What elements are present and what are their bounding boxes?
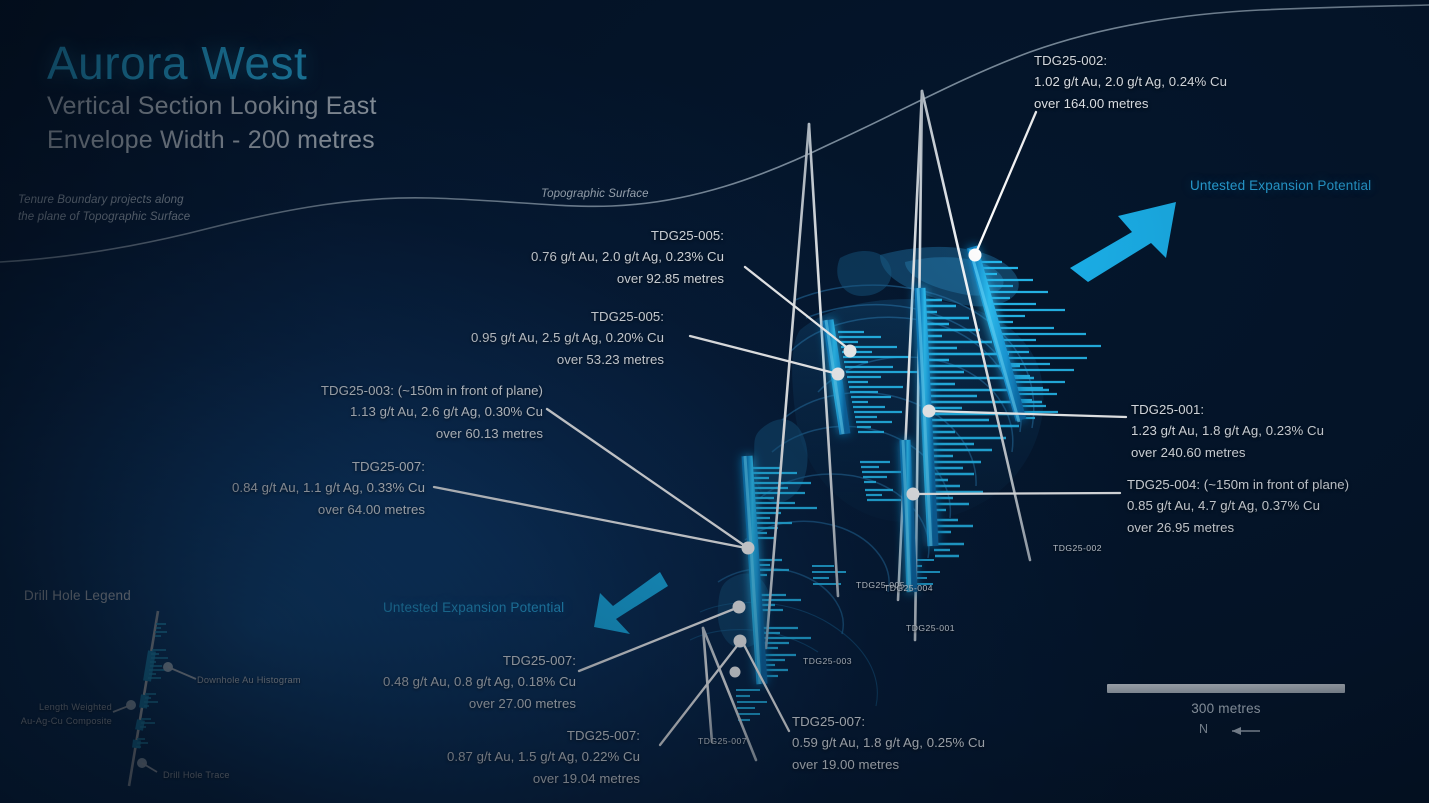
expansion-label-right: Untested Expansion Potential	[1190, 178, 1371, 193]
subtitle-line-1: Vertical Section Looking East	[47, 91, 377, 122]
callout-interval: over 26.95 metres	[1127, 517, 1349, 538]
callout-tdg25-002: TDG25-002: 1.02 g/t Au, 2.0 g/t Ag, 0.24…	[1034, 50, 1227, 114]
tenure-note-line-2: the plane of Topographic Surface	[18, 209, 190, 226]
callout-tdg25-004: TDG25-004: (~150m in front of plane) 0.8…	[1127, 474, 1349, 538]
callout-tdg25-007-64m: TDG25-007: 0.84 g/t Au, 1.1 g/t Ag, 0.33…	[105, 456, 425, 520]
hole-label-tdg25-004: TDG25-004	[884, 583, 933, 593]
legend-item-composite: Length Weighted Au-Ag-Cu Composite	[0, 701, 112, 729]
callout-grade: 1.23 g/t Au, 1.8 g/t Ag, 0.23% Cu	[1131, 420, 1324, 441]
legend-item-histogram-label: Downhole Au Histogram	[197, 674, 301, 688]
tenure-boundary-note: Tenure Boundary projects along the plane…	[18, 192, 190, 227]
callout-hole-id: TDG25-001:	[1131, 399, 1324, 420]
callout-tdg25-003: TDG25-003: (~150m in front of plane) 1.1…	[208, 380, 543, 444]
callout-grade: 1.13 g/t Au, 2.6 g/t Ag, 0.30% Cu	[208, 401, 543, 422]
callout-interval: over 27.00 metres	[256, 693, 576, 714]
callout-interval: over 164.00 metres	[1034, 93, 1227, 114]
callout-grade: 0.84 g/t Au, 1.1 g/t Ag, 0.33% Cu	[105, 477, 425, 498]
callout-tdg25-007-27m: TDG25-007: 0.48 g/t Au, 0.8 g/t Ag, 0.18…	[256, 650, 576, 714]
expansion-arrow-left	[594, 572, 668, 634]
callout-grade: 1.02 g/t Au, 2.0 g/t Ag, 0.24% Cu	[1034, 71, 1227, 92]
north-letter: N	[1199, 722, 1208, 736]
page-title: Aurora West	[47, 40, 377, 87]
callout-hole-id: TDG25-004: (~150m in front of plane)	[1127, 474, 1349, 495]
section-figure: Aurora West Vertical Section Looking Eas…	[0, 0, 1429, 803]
hole-label-tdg25-007: TDG25-007	[698, 736, 747, 746]
legend-item-histogram: Downhole Au Histogram	[197, 674, 301, 688]
legend-title: Drill Hole Legend	[24, 588, 131, 603]
callout-hole-id: TDG25-007:	[792, 711, 985, 732]
callout-interval: over 19.00 metres	[792, 754, 985, 775]
callout-tdg25-001: TDG25-001: 1.23 g/t Au, 1.8 g/t Ag, 0.23…	[1131, 399, 1324, 463]
callout-grade: 0.95 g/t Au, 2.5 g/t Ag, 0.20% Cu	[344, 327, 664, 348]
callout-interval: over 60.13 metres	[208, 423, 543, 444]
scale-distance-label: 300 metres	[1107, 701, 1345, 716]
expansion-label-left: Untested Expansion Potential	[383, 600, 564, 615]
callout-hole-id: TDG25-005:	[344, 306, 664, 327]
callout-grade: 0.48 g/t Au, 0.8 g/t Ag, 0.18% Cu	[256, 671, 576, 692]
legend-item-trace: Drill Hole Trace	[163, 769, 230, 783]
tenure-note-line-1: Tenure Boundary projects along	[18, 192, 190, 209]
callout-hole-id: TDG25-005:	[404, 225, 724, 246]
callout-grade: 0.85 g/t Au, 4.7 g/t Ag, 0.37% Cu	[1127, 495, 1349, 516]
callout-tdg25-005-lower: TDG25-005: 0.95 g/t Au, 2.5 g/t Ag, 0.20…	[344, 306, 664, 370]
callout-hole-id: TDG25-007:	[320, 725, 640, 746]
callout-tdg25-007-1900m: TDG25-007: 0.59 g/t Au, 1.8 g/t Ag, 0.25…	[792, 711, 985, 775]
callout-tdg25-005-upper: TDG25-005: 0.76 g/t Au, 2.0 g/t Ag, 0.23…	[404, 225, 724, 289]
scale-bar	[1107, 684, 1345, 693]
hole-label-tdg25-001: TDG25-001	[906, 623, 955, 633]
callout-tdg25-007-1904m: TDG25-007: 0.87 g/t Au, 1.5 g/t Ag, 0.22…	[320, 725, 640, 789]
topographic-surface-label: Topographic Surface	[541, 188, 649, 200]
north-indicator: N	[1107, 722, 1345, 736]
hole-label-tdg25-003: TDG25-003	[803, 656, 852, 666]
callout-grade: 0.87 g/t Au, 1.5 g/t Ag, 0.22% Cu	[320, 746, 640, 767]
callout-interval: over 240.60 metres	[1131, 442, 1324, 463]
legend-item-trace-label: Drill Hole Trace	[163, 769, 230, 783]
legend-item-composite-line-1: Length Weighted	[0, 701, 112, 715]
callout-interval: over 53.23 metres	[344, 349, 664, 370]
callout-grade: 0.59 g/t Au, 1.8 g/t Ag, 0.25% Cu	[792, 732, 985, 753]
title-block: Aurora West Vertical Section Looking Eas…	[47, 40, 377, 156]
hole-label-tdg25-002: TDG25-002	[1053, 543, 1102, 553]
legend-item-composite-line-2: Au-Ag-Cu Composite	[0, 715, 112, 729]
callout-hole-id: TDG25-002:	[1034, 50, 1227, 71]
callout-interval: over 92.85 metres	[404, 268, 724, 289]
callout-grade: 0.76 g/t Au, 2.0 g/t Ag, 0.23% Cu	[404, 246, 724, 267]
callout-hole-id: TDG25-007:	[105, 456, 425, 477]
callout-hole-id: TDG25-007:	[256, 650, 576, 671]
subtitle-line-2: Envelope Width - 200 metres	[47, 125, 377, 156]
legend-drillhole-graphic	[113, 611, 196, 786]
callout-hole-id: TDG25-003: (~150m in front of plane)	[208, 380, 543, 401]
callout-interval: over 64.00 metres	[105, 499, 425, 520]
expansion-arrow-right	[1070, 202, 1176, 282]
callout-interval: over 19.04 metres	[320, 768, 640, 789]
